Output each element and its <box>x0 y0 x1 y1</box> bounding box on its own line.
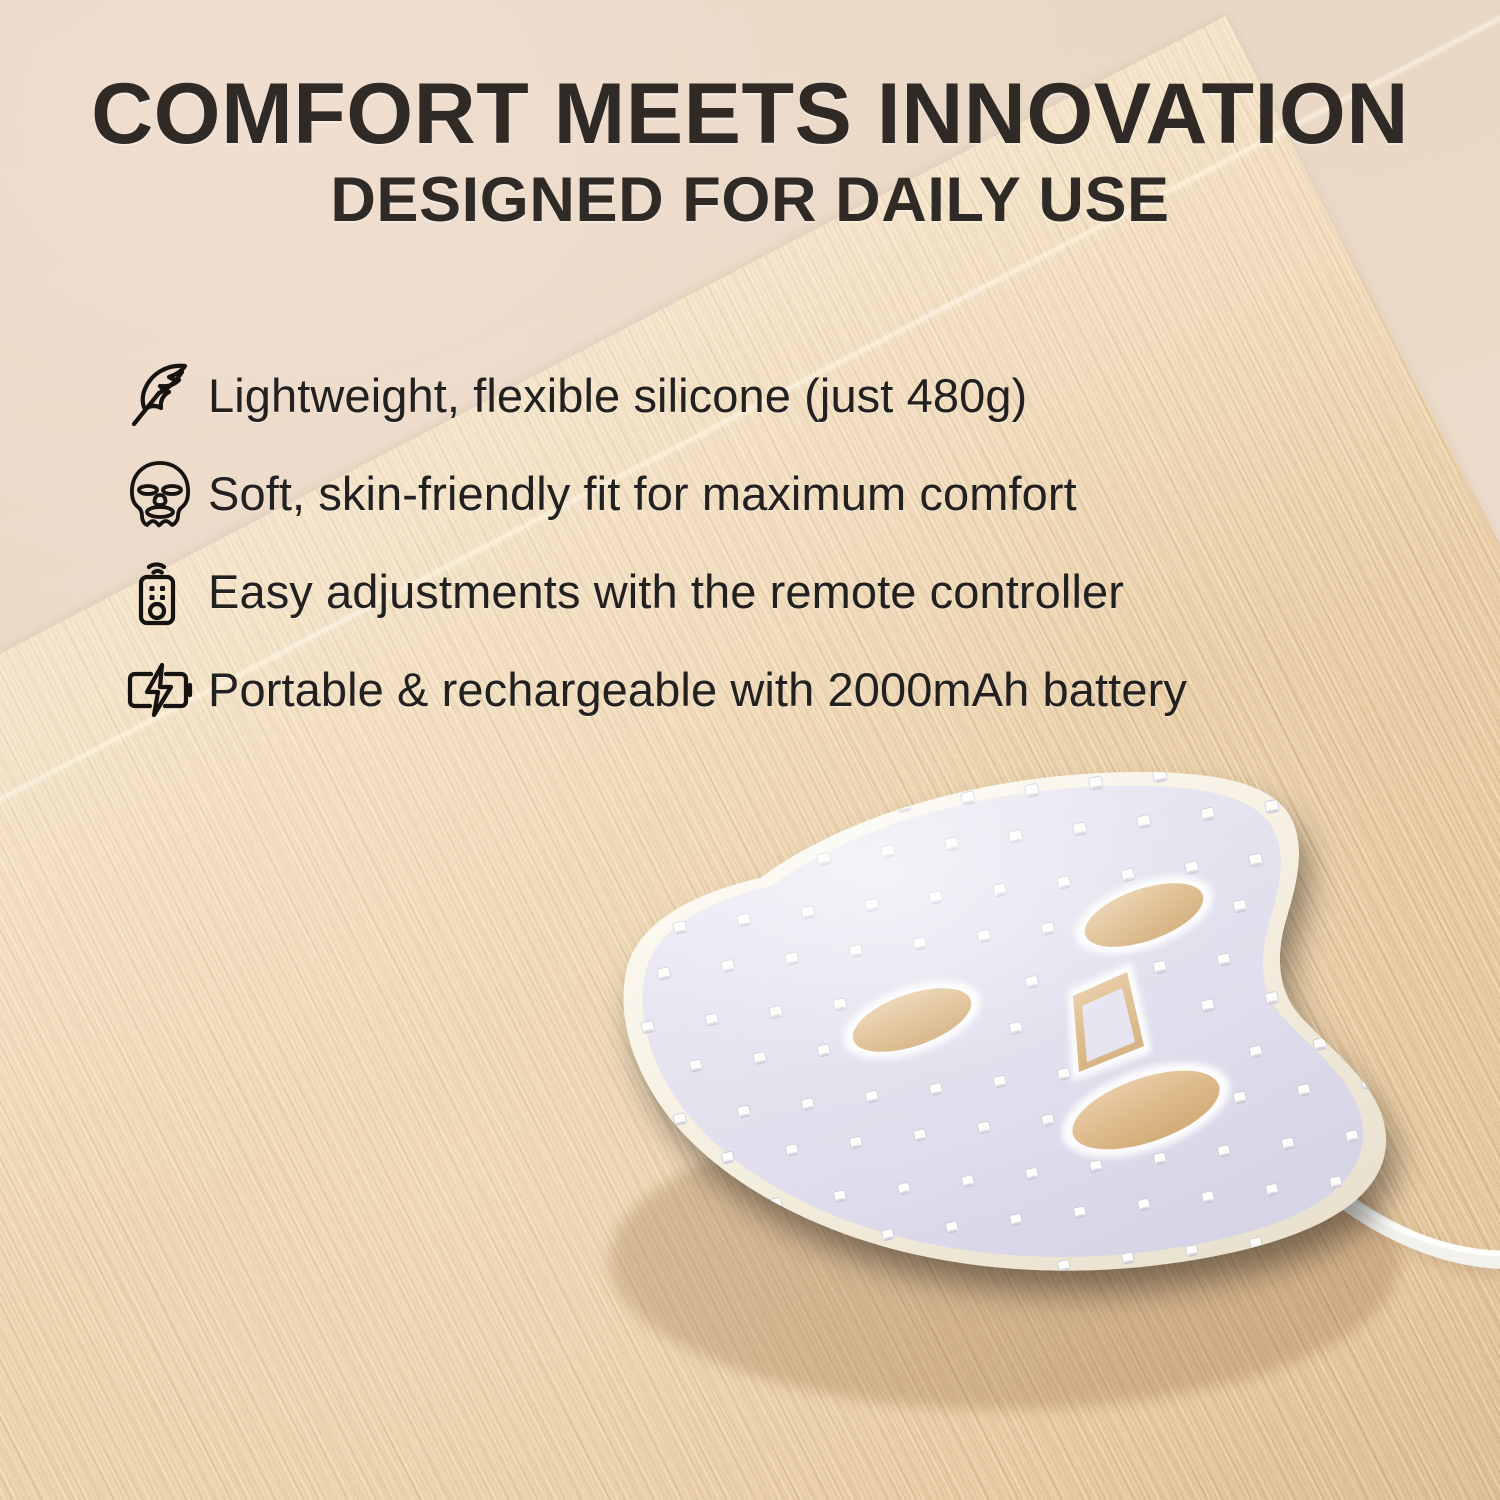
led-chip <box>1329 984 1343 997</box>
led-chip-shadow <box>771 822 782 827</box>
led-chip <box>1377 1030 1391 1043</box>
led-chip-shadow <box>707 830 718 835</box>
led-chip <box>1281 945 1295 959</box>
led-chip <box>689 867 704 881</box>
led-chip <box>1328 792 1343 806</box>
led-chip-shadow <box>1364 893 1375 898</box>
led-chip-shadow <box>1300 900 1311 905</box>
led-chip <box>1361 884 1376 898</box>
led-chip <box>768 813 783 827</box>
led-chip-shadow <box>659 784 670 790</box>
face-mask-icon <box>112 457 208 531</box>
led-chip <box>657 1159 670 1172</box>
product-marketing-banner: COMFORT MEETS INNOVATION DESIGNED FOR DA… <box>0 0 1500 1500</box>
headline-secondary: DESIGNED FOR DAILY USE <box>0 169 1500 232</box>
led-chip <box>656 775 671 789</box>
feature-item-comfort-fit: Soft, skin-friendly fit for maximum comf… <box>112 446 1442 542</box>
led-chip-shadow <box>1332 992 1342 997</box>
face-mask-illustration <box>430 700 1500 1500</box>
led-chip <box>832 806 847 820</box>
led-chip <box>1376 838 1391 852</box>
led-chip <box>640 828 655 842</box>
led-chip-shadow <box>643 837 654 842</box>
led-chip-shadow <box>628 883 639 888</box>
product-image-led-face-mask <box>430 700 1500 1500</box>
led-chip <box>625 1067 639 1080</box>
led-chip-shadow <box>660 1167 670 1172</box>
led-chip-shadow <box>1380 1038 1390 1043</box>
led-chip-shadow <box>723 776 734 782</box>
headline-primary: COMFORT MEETS INNOVATION <box>0 72 1500 157</box>
led-chip <box>609 1120 623 1133</box>
feature-list: Lightweight, flexible silicone (just 480… <box>112 348 1442 740</box>
led-chip <box>609 928 623 942</box>
led-chip-shadow <box>1348 946 1358 951</box>
led-chip <box>625 875 640 889</box>
led-chip-shadow <box>1316 854 1327 859</box>
led-chip-shadow <box>1331 801 1342 807</box>
feature-item-remote: Easy adjustments with the remote control… <box>112 544 1442 640</box>
led-chip <box>704 821 719 835</box>
feature-label: Easy adjustments with the remote control… <box>208 568 1124 617</box>
headline-block: COMFORT MEETS INNOVATION DESIGNED FOR DA… <box>0 72 1500 232</box>
led-chip-shadow <box>692 876 703 881</box>
feature-label: Lightweight, flexible silicone (just 480… <box>208 372 1027 421</box>
remote-control-icon <box>112 555 208 629</box>
led-chip <box>1313 846 1328 860</box>
led-chip-shadow <box>1284 954 1294 959</box>
feature-label: Soft, skin-friendly fit for maximum comf… <box>208 470 1077 519</box>
led-chip <box>753 860 768 874</box>
led-chip-shadow <box>612 1128 622 1133</box>
led-chip <box>1297 892 1312 906</box>
feather-icon <box>112 359 208 433</box>
led-chip-shadow <box>756 868 767 873</box>
led-chip-shadow <box>628 1075 638 1080</box>
led-chip-shadow <box>835 815 846 820</box>
led-chip-shadow <box>1379 847 1390 852</box>
feature-item-lightweight: Lightweight, flexible silicone (just 480… <box>112 348 1442 444</box>
led-chip <box>720 767 735 781</box>
led-chip <box>1345 938 1359 952</box>
led-chip-shadow <box>612 937 622 942</box>
battery-charging-icon <box>112 653 208 727</box>
